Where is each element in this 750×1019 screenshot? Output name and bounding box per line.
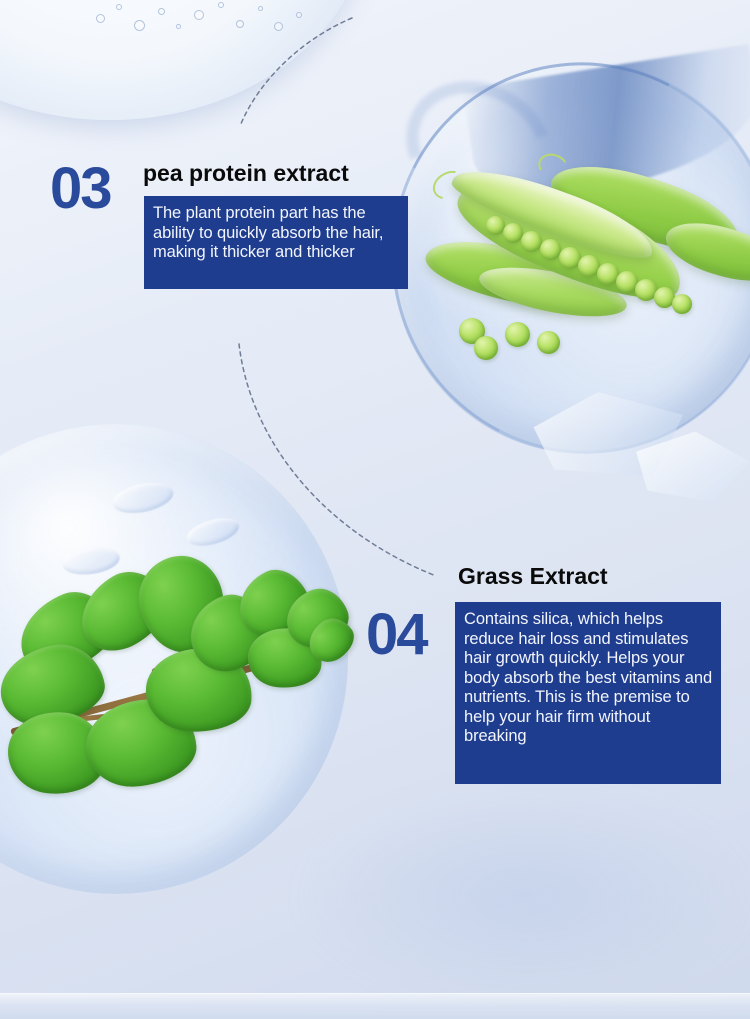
section-body-03: The plant protein part has the ability t… [153,204,400,263]
dashed-curve-connector-middle [239,344,436,576]
infographic-canvas: 03 pea protein extract The plant protein… [0,0,750,1019]
sphere-dimple-b [60,544,121,578]
bubble-cluster [90,0,310,46]
sphere-dimple-a [110,478,176,518]
section-callout-03: The plant protein part has the ability t… [144,196,408,289]
section-number-04: 04 [366,606,427,664]
background-haze [300,790,750,1000]
connector-layer [0,0,750,1019]
section-callout-04: Contains silica, which helps reduce hair… [455,602,721,784]
section-heading-04: Grass Extract [458,565,608,588]
section-heading-03: pea protein extract [143,162,349,185]
ice-shard-b [636,430,750,502]
section-number-03: 03 [50,160,111,218]
section-body-04: Contains silica, which helps reduce hair… [464,610,713,747]
floor-band [0,993,750,1019]
dashed-curve-connector-top [240,18,352,126]
sphere-dimple-c [184,513,243,551]
water-sphere-top-left [0,0,370,120]
ice-shard-a [520,392,690,480]
